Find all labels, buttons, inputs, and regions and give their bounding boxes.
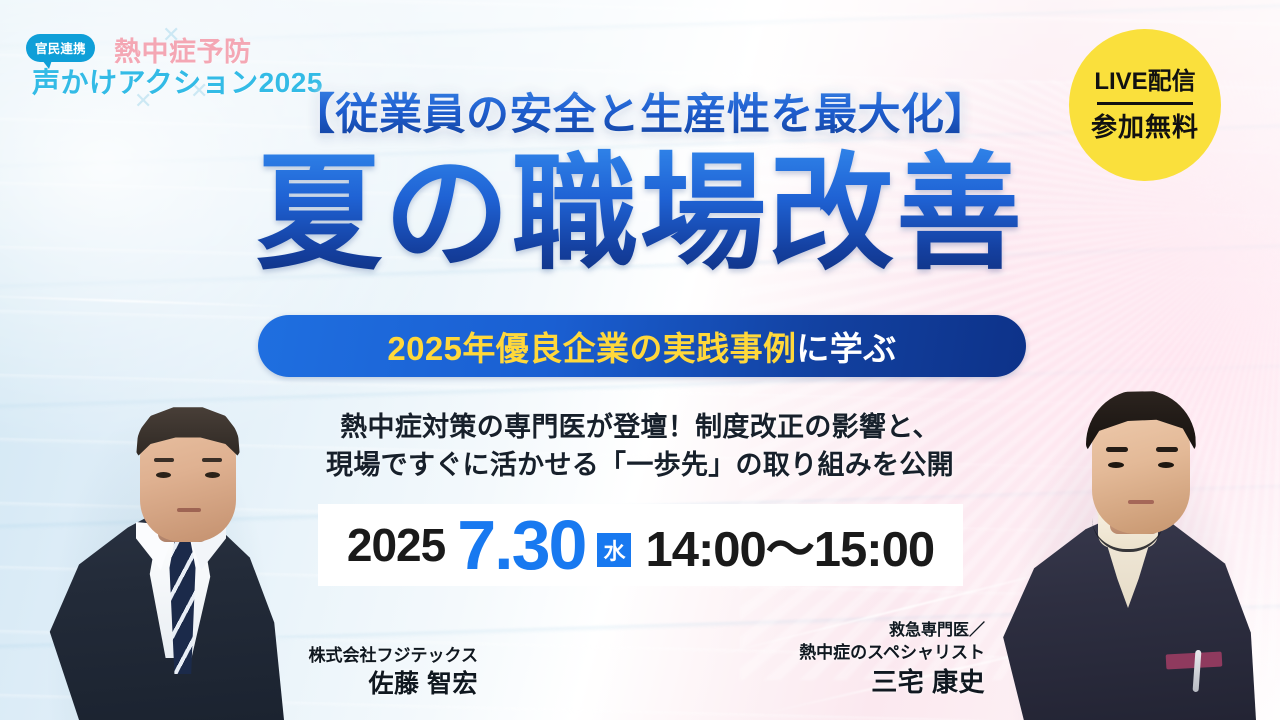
event-time: 14:00〜15:00 (645, 510, 934, 581)
subtitle-rest: に学ぶ (796, 322, 896, 370)
subtitle-highlight: 2025年優良企業の実践事例 (387, 322, 796, 370)
description-block: 熱中症対策の専門医が登壇！制度改正の影響と、 現場ですぐに活かせる「一歩先」の取… (0, 408, 1280, 485)
speaker-caption-right: 救急専門医／ 熱中症のスペシャリスト 三宅 康史 (725, 620, 985, 700)
event-datetime-bar: 2025 7.30 水 14:00〜15:00 (318, 504, 963, 586)
page-title: 夏の職場改善 (0, 148, 1280, 280)
event-dayofweek: 水 (597, 533, 631, 567)
speaker-left-name: 佐藤 智宏 (256, 668, 478, 701)
logo-badge: 官民連携 (26, 34, 95, 62)
description-line-1: 熱中症対策の専門医が登壇！制度改正の影響と、 (0, 408, 1280, 446)
event-date: 7.30 (457, 512, 585, 579)
event-year: 2025 (347, 518, 445, 572)
photo-right-mouth (1128, 500, 1154, 504)
speaker-right-role-2: 熱中症のスペシャリスト (725, 642, 985, 665)
webinar-banner: ✕ ✕ ✕ 官民連携 熱中症予防 声かけアクション2025 LIVE配信 参加無… (0, 0, 1280, 720)
subtitle-pill: 2025年優良企業の実践事例 に学ぶ (258, 315, 1026, 377)
description-line-2: 現場ですぐに活かせる「一歩先」の取り組みを公開 (0, 446, 1280, 484)
speaker-right-name: 三宅 康史 (725, 665, 985, 700)
speaker-right-role-1: 救急専門医／ (725, 620, 985, 642)
photo-left-mouth (177, 508, 201, 512)
headline-kicker: 【従業員の安全と生産性を最大化】 (0, 80, 1280, 142)
speaker-caption-left: 株式会社フジテックス 佐藤 智宏 (256, 645, 478, 700)
speaker-left-org: 株式会社フジテックス (256, 645, 478, 668)
